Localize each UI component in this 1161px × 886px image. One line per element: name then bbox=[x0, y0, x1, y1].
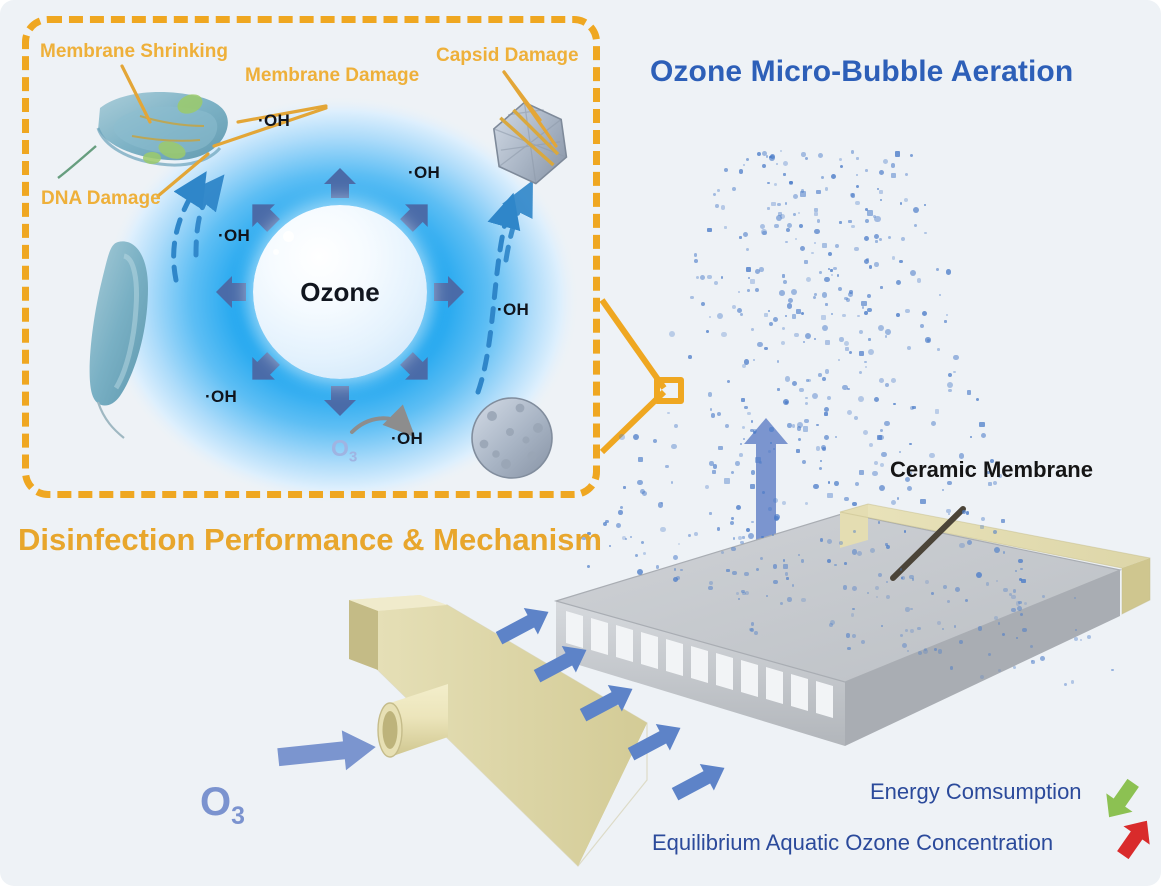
reactant-subscript: 3 bbox=[349, 449, 357, 466]
micro-bubble bbox=[1024, 602, 1027, 605]
micro-bubble bbox=[967, 390, 972, 395]
micro-bubble bbox=[862, 306, 865, 309]
micro-bubble bbox=[814, 212, 819, 217]
micro-bubble bbox=[690, 296, 693, 299]
micro-bubble bbox=[854, 416, 858, 420]
micro-bubble bbox=[701, 302, 705, 306]
micro-bubble bbox=[743, 438, 745, 440]
micro-bubble bbox=[773, 448, 775, 450]
micro-bubble bbox=[946, 269, 952, 275]
inlet-gas-label: O3 bbox=[200, 782, 245, 830]
micro-bubble bbox=[901, 237, 905, 241]
micro-bubble bbox=[768, 310, 771, 313]
micro-bubble bbox=[891, 173, 896, 178]
micro-bubble bbox=[886, 595, 890, 599]
micro-bubble bbox=[796, 449, 800, 453]
micro-bubble bbox=[653, 439, 657, 443]
micro-bubble bbox=[780, 602, 783, 605]
micro-bubble bbox=[859, 351, 864, 356]
micro-bubble bbox=[917, 627, 921, 631]
micro-bubble bbox=[780, 150, 782, 152]
micro-bubble bbox=[1021, 579, 1026, 584]
micro-bubble bbox=[804, 419, 809, 424]
micro-bubble bbox=[776, 215, 782, 221]
micro-bubble bbox=[819, 467, 822, 470]
micro-bubble bbox=[669, 331, 675, 337]
micro-bubble bbox=[766, 595, 768, 597]
micro-bubble bbox=[1016, 637, 1019, 640]
micro-bubble bbox=[859, 371, 862, 374]
micro-bubble bbox=[843, 585, 848, 590]
micro-bubble bbox=[667, 412, 670, 415]
micro-bubble bbox=[1022, 628, 1026, 632]
micro-bubble bbox=[910, 629, 914, 633]
micro-bubble bbox=[755, 288, 760, 293]
micro-bubble bbox=[587, 565, 590, 568]
micro-bubble bbox=[721, 205, 725, 209]
micro-bubble bbox=[852, 502, 857, 507]
micro-bubble bbox=[1087, 635, 1091, 639]
micro-bubble bbox=[724, 168, 728, 172]
micro-bubble bbox=[801, 152, 806, 157]
micro-bubble bbox=[658, 502, 664, 508]
micro-bubble bbox=[777, 360, 780, 363]
inlet-gas-subscript: 3 bbox=[231, 803, 245, 830]
micro-bubble bbox=[753, 359, 755, 361]
micro-bubble bbox=[799, 224, 804, 229]
micro-bubble bbox=[805, 502, 809, 506]
micro-bubble bbox=[731, 547, 736, 552]
micro-bubble bbox=[746, 528, 750, 532]
micro-bubble bbox=[856, 174, 858, 176]
micro-bubble bbox=[959, 543, 965, 549]
legend-ozone-concentration-label: Equilibrium Aquatic Ozone Concentration bbox=[652, 832, 1053, 854]
micro-bubble bbox=[785, 241, 788, 244]
micro-bubble bbox=[618, 510, 623, 515]
micro-bubble bbox=[743, 164, 745, 166]
micro-bubble bbox=[767, 182, 769, 184]
micro-bubble bbox=[970, 436, 972, 438]
micro-bubble bbox=[783, 564, 788, 569]
micro-bubble bbox=[785, 376, 791, 382]
micro-bubble bbox=[808, 379, 811, 382]
micro-bubble bbox=[827, 559, 831, 563]
micro-bubble bbox=[827, 539, 832, 544]
micro-bubble bbox=[803, 341, 805, 343]
micro-bubble bbox=[805, 157, 808, 160]
micro-bubble bbox=[751, 470, 756, 475]
micro-bubble bbox=[717, 412, 722, 417]
highlight-specular-small bbox=[273, 249, 279, 255]
micro-bubble bbox=[674, 568, 677, 571]
micro-bubble bbox=[707, 275, 712, 280]
micro-bubble bbox=[742, 364, 747, 369]
micro-bubble bbox=[937, 348, 940, 351]
micro-bubble bbox=[785, 572, 788, 575]
micro-bubble bbox=[851, 613, 855, 617]
micro-bubble bbox=[709, 512, 712, 515]
micro-bubble bbox=[891, 378, 896, 383]
micro-bubble bbox=[814, 229, 819, 234]
micro-bubble bbox=[738, 598, 740, 600]
micro-bubble bbox=[609, 545, 612, 548]
micro-bubble bbox=[798, 438, 801, 441]
micro-bubble bbox=[745, 591, 750, 596]
micro-bubble bbox=[616, 523, 621, 528]
micro-bubble bbox=[788, 298, 793, 303]
micro-bubble bbox=[782, 501, 786, 505]
legend-energy-consumption-label: Energy Comsumption bbox=[870, 781, 1082, 803]
micro-bubble bbox=[937, 621, 941, 625]
annotation-capsid-damage: Capsid Damage bbox=[436, 46, 579, 65]
micro-bubble bbox=[641, 541, 644, 544]
micro-bubble bbox=[955, 587, 960, 592]
micro-bubble bbox=[959, 640, 963, 644]
micro-bubble bbox=[835, 244, 839, 248]
micro-bubble bbox=[1003, 551, 1006, 554]
micro-bubble bbox=[792, 584, 795, 587]
micro-bubble bbox=[740, 313, 743, 316]
micro-bubble bbox=[920, 324, 924, 328]
micro-bubble bbox=[917, 278, 922, 283]
micro-bubble bbox=[783, 161, 789, 167]
micro-bubble bbox=[901, 576, 905, 580]
micro-bubble bbox=[1074, 597, 1076, 599]
micro-bubble bbox=[744, 406, 747, 409]
micro-bubble bbox=[848, 292, 853, 297]
micro-bubble bbox=[825, 369, 829, 373]
micro-bubble bbox=[1075, 629, 1077, 631]
micro-bubble bbox=[750, 484, 755, 489]
micro-bubble bbox=[769, 322, 773, 326]
micro-bubble bbox=[713, 193, 716, 196]
radical-label-6: ·OH bbox=[391, 430, 423, 447]
micro-bubble bbox=[715, 204, 719, 208]
micro-bubble bbox=[688, 355, 692, 359]
micro-bubble bbox=[710, 408, 712, 410]
micro-bubble bbox=[981, 433, 986, 438]
micro-bubble bbox=[846, 633, 851, 638]
micro-bubble bbox=[1040, 656, 1045, 661]
micro-bubble bbox=[875, 240, 878, 243]
micro-bubble bbox=[736, 505, 741, 510]
micro-bubble bbox=[976, 572, 982, 578]
micro-bubble bbox=[735, 461, 740, 466]
micro-bubble bbox=[760, 557, 764, 561]
micro-bubble bbox=[750, 628, 754, 632]
micro-bubble bbox=[673, 555, 678, 560]
micro-bubble bbox=[708, 586, 712, 590]
micro-bubble bbox=[820, 460, 822, 462]
micro-bubble bbox=[773, 580, 778, 585]
micro-bubble bbox=[846, 298, 850, 302]
micro-bubble bbox=[896, 313, 900, 317]
annotation-dna-damage: DNA Damage bbox=[41, 189, 161, 208]
micro-bubble bbox=[813, 296, 817, 300]
micro-bubble bbox=[733, 537, 736, 540]
micro-bubble bbox=[856, 157, 859, 160]
micro-bubble bbox=[795, 238, 797, 240]
micro-bubble bbox=[768, 450, 771, 453]
micro-bubble bbox=[782, 274, 786, 278]
micro-bubble bbox=[853, 530, 856, 533]
micro-bubble bbox=[839, 221, 842, 224]
micro-bubble bbox=[762, 151, 767, 156]
micro-bubble bbox=[630, 536, 632, 538]
micro-bubble bbox=[845, 347, 849, 351]
micro-bubble bbox=[746, 267, 751, 272]
micro-bubble bbox=[868, 338, 871, 341]
micro-bubble bbox=[730, 521, 734, 525]
micro-bubble bbox=[925, 580, 929, 584]
micro-bubble bbox=[797, 422, 803, 428]
micro-bubble bbox=[965, 599, 968, 602]
micro-bubble bbox=[746, 248, 749, 251]
micro-bubble bbox=[855, 201, 860, 206]
micro-bubble bbox=[751, 420, 754, 423]
micro-bubble bbox=[747, 412, 751, 416]
micro-bubble bbox=[910, 154, 914, 158]
micro-bubble bbox=[801, 312, 804, 315]
micro-bubble bbox=[811, 252, 813, 254]
micro-bubble bbox=[779, 290, 785, 296]
micro-bubble bbox=[913, 207, 919, 213]
micro-bubble bbox=[904, 530, 907, 533]
micro-bubble bbox=[773, 564, 778, 569]
micro-bubble bbox=[764, 347, 768, 351]
micro-bubble bbox=[739, 169, 744, 174]
micro-bubble bbox=[827, 396, 831, 400]
micro-bubble bbox=[988, 653, 991, 656]
micro-bubble bbox=[753, 429, 757, 433]
micro-bubble bbox=[792, 314, 797, 319]
ceramic-membrane-label: Ceramic Membrane bbox=[890, 459, 1093, 481]
micro-bubble bbox=[998, 622, 1000, 624]
page-title-aeration: Ozone Micro-Bubble Aeration bbox=[650, 57, 1073, 87]
micro-bubble bbox=[859, 470, 864, 475]
micro-bubble bbox=[899, 260, 903, 264]
micro-bubble bbox=[755, 457, 761, 463]
micro-bubble bbox=[774, 183, 778, 187]
micro-bubble bbox=[838, 359, 840, 361]
micro-bubble bbox=[792, 381, 797, 386]
micro-bubble bbox=[839, 158, 842, 161]
micro-bubble bbox=[724, 226, 727, 229]
micro-bubble bbox=[676, 576, 680, 580]
micro-bubble bbox=[831, 174, 836, 179]
radical-label-3: ·OH bbox=[218, 227, 250, 244]
micro-bubble bbox=[837, 274, 840, 277]
micro-bubble bbox=[751, 328, 754, 331]
micro-bubble bbox=[724, 478, 730, 484]
micro-bubble bbox=[671, 481, 674, 484]
page-title-mechanism: Disinfection Performance & Mechanism bbox=[18, 524, 602, 555]
micro-bubble bbox=[858, 396, 864, 402]
micro-bubble bbox=[770, 442, 772, 444]
micro-bubble bbox=[980, 525, 985, 530]
micro-bubble bbox=[851, 225, 855, 229]
micro-bubble bbox=[801, 598, 806, 603]
micro-bubble bbox=[833, 267, 837, 271]
micro-bubble bbox=[694, 253, 698, 257]
micro-bubble bbox=[830, 620, 835, 625]
micro-bubble bbox=[694, 532, 698, 536]
micro-bubble bbox=[854, 247, 859, 252]
micro-bubble bbox=[994, 547, 1000, 553]
micro-bubble bbox=[994, 616, 998, 620]
micro-bubble bbox=[711, 413, 716, 418]
micro-bubble bbox=[822, 292, 828, 298]
micro-bubble bbox=[732, 187, 736, 191]
micro-bubble bbox=[886, 581, 889, 584]
micro-bubble bbox=[801, 559, 804, 562]
micro-bubble bbox=[818, 153, 823, 158]
radical-label-2: ·OH bbox=[408, 164, 440, 181]
micro-bubble bbox=[820, 538, 824, 542]
micro-bubble bbox=[694, 259, 698, 263]
micro-bubble bbox=[755, 269, 760, 274]
micro-bubble bbox=[1030, 645, 1033, 648]
micro-bubble bbox=[976, 398, 979, 401]
micro-bubble bbox=[768, 507, 772, 511]
micro-bubble bbox=[824, 412, 828, 416]
micro-bubble bbox=[821, 315, 826, 320]
graphical-abstract-canvas: Ozone Membrane Shrinking Membrane Damage… bbox=[0, 0, 1161, 886]
micro-bubble bbox=[708, 392, 712, 396]
micro-bubble bbox=[867, 210, 873, 216]
micro-bubble bbox=[954, 625, 956, 627]
micro-bubble bbox=[727, 380, 730, 383]
micro-bubble bbox=[848, 220, 851, 223]
ozone-bubble-core: Ozone bbox=[253, 205, 427, 379]
micro-bubble bbox=[1015, 570, 1018, 573]
micro-bubble bbox=[851, 150, 854, 153]
micro-bubble bbox=[979, 422, 985, 428]
micro-bubble bbox=[878, 325, 884, 331]
micro-bubble bbox=[774, 514, 780, 520]
micro-bubble bbox=[942, 628, 944, 630]
micro-bubble bbox=[857, 551, 863, 557]
micro-bubble bbox=[1017, 606, 1022, 611]
micro-bubble bbox=[950, 666, 954, 670]
micro-bubble bbox=[633, 434, 639, 440]
micro-bubble bbox=[869, 443, 873, 447]
micro-bubble bbox=[814, 208, 818, 212]
micro-bubble bbox=[852, 634, 856, 638]
micro-bubble bbox=[717, 313, 723, 319]
micro-bubble bbox=[776, 163, 778, 165]
micro-bubble bbox=[744, 572, 749, 577]
micro-bubble bbox=[892, 256, 896, 260]
micro-bubble bbox=[712, 470, 716, 474]
micro-bubble bbox=[868, 349, 874, 355]
micro-bubble bbox=[721, 332, 727, 338]
micro-bubble bbox=[891, 500, 896, 505]
micro-bubble bbox=[900, 202, 903, 205]
micro-bubble bbox=[885, 383, 889, 387]
micro-bubble bbox=[787, 303, 793, 309]
micro-bubble bbox=[874, 397, 879, 402]
micro-bubble bbox=[875, 586, 879, 590]
micro-bubble bbox=[838, 287, 842, 291]
micro-bubble bbox=[834, 564, 837, 567]
micro-bubble bbox=[620, 506, 624, 510]
micro-bubble bbox=[1013, 589, 1017, 593]
micro-bubble bbox=[914, 224, 917, 227]
micro-bubble bbox=[834, 481, 839, 486]
micro-bubble bbox=[762, 491, 766, 495]
micro-bubble bbox=[747, 289, 750, 292]
micro-bubble bbox=[740, 541, 744, 545]
highlight-specular-large bbox=[283, 231, 294, 242]
micro-bubble bbox=[751, 622, 754, 625]
micro-bubble bbox=[855, 482, 859, 486]
radical-label-1: ·OH bbox=[258, 112, 290, 129]
micro-bubble bbox=[1042, 595, 1045, 598]
micro-bubble bbox=[867, 308, 872, 313]
micro-bubble bbox=[988, 482, 992, 486]
micro-bubble bbox=[935, 409, 939, 413]
micro-bubble bbox=[638, 457, 644, 463]
inlet-gas-symbol: O bbox=[200, 780, 231, 824]
micro-bubble bbox=[742, 426, 745, 429]
micro-bubble bbox=[725, 424, 729, 428]
micro-bubble bbox=[1080, 639, 1082, 641]
micro-bubble bbox=[660, 527, 666, 533]
micro-bubble bbox=[787, 423, 792, 428]
micro-bubble bbox=[847, 647, 851, 651]
micro-bubble bbox=[748, 533, 754, 539]
micro-bubble bbox=[844, 497, 849, 502]
micro-bubble bbox=[741, 398, 744, 401]
micro-bubble bbox=[996, 580, 999, 583]
micro-bubble bbox=[757, 342, 763, 348]
micro-bubble bbox=[869, 265, 873, 269]
micro-bubble bbox=[888, 236, 891, 239]
micro-bubble bbox=[1074, 637, 1078, 641]
micro-bubble bbox=[881, 625, 883, 627]
micro-bubble bbox=[764, 313, 769, 318]
micro-bubble bbox=[773, 498, 778, 503]
micro-bubble bbox=[879, 190, 884, 195]
micro-bubble bbox=[944, 320, 947, 323]
micro-bubble bbox=[718, 446, 723, 451]
micro-bubble bbox=[880, 463, 884, 467]
micro-bubble bbox=[783, 280, 787, 284]
micro-bubble bbox=[785, 202, 788, 205]
micro-bubble bbox=[859, 330, 863, 334]
micro-bubble bbox=[773, 317, 778, 322]
micro-bubble bbox=[948, 373, 952, 377]
micro-bubble bbox=[739, 453, 743, 457]
micro-bubble bbox=[878, 573, 882, 577]
micro-bubble bbox=[793, 213, 796, 216]
micro-bubble bbox=[731, 471, 734, 474]
micro-bubble bbox=[824, 435, 829, 440]
micro-bubble bbox=[740, 443, 742, 445]
micro-bubble bbox=[880, 286, 883, 289]
micro-bubble bbox=[879, 485, 885, 491]
micro-bubble bbox=[828, 481, 830, 483]
micro-bubble bbox=[821, 176, 824, 179]
micro-bubble bbox=[863, 430, 868, 435]
micro-bubble bbox=[812, 393, 818, 399]
micro-bubble bbox=[785, 315, 788, 318]
micro-bubble bbox=[805, 402, 808, 405]
micro-bubble bbox=[907, 346, 911, 350]
micro-bubble bbox=[635, 554, 639, 558]
micro-bubble bbox=[805, 333, 811, 339]
